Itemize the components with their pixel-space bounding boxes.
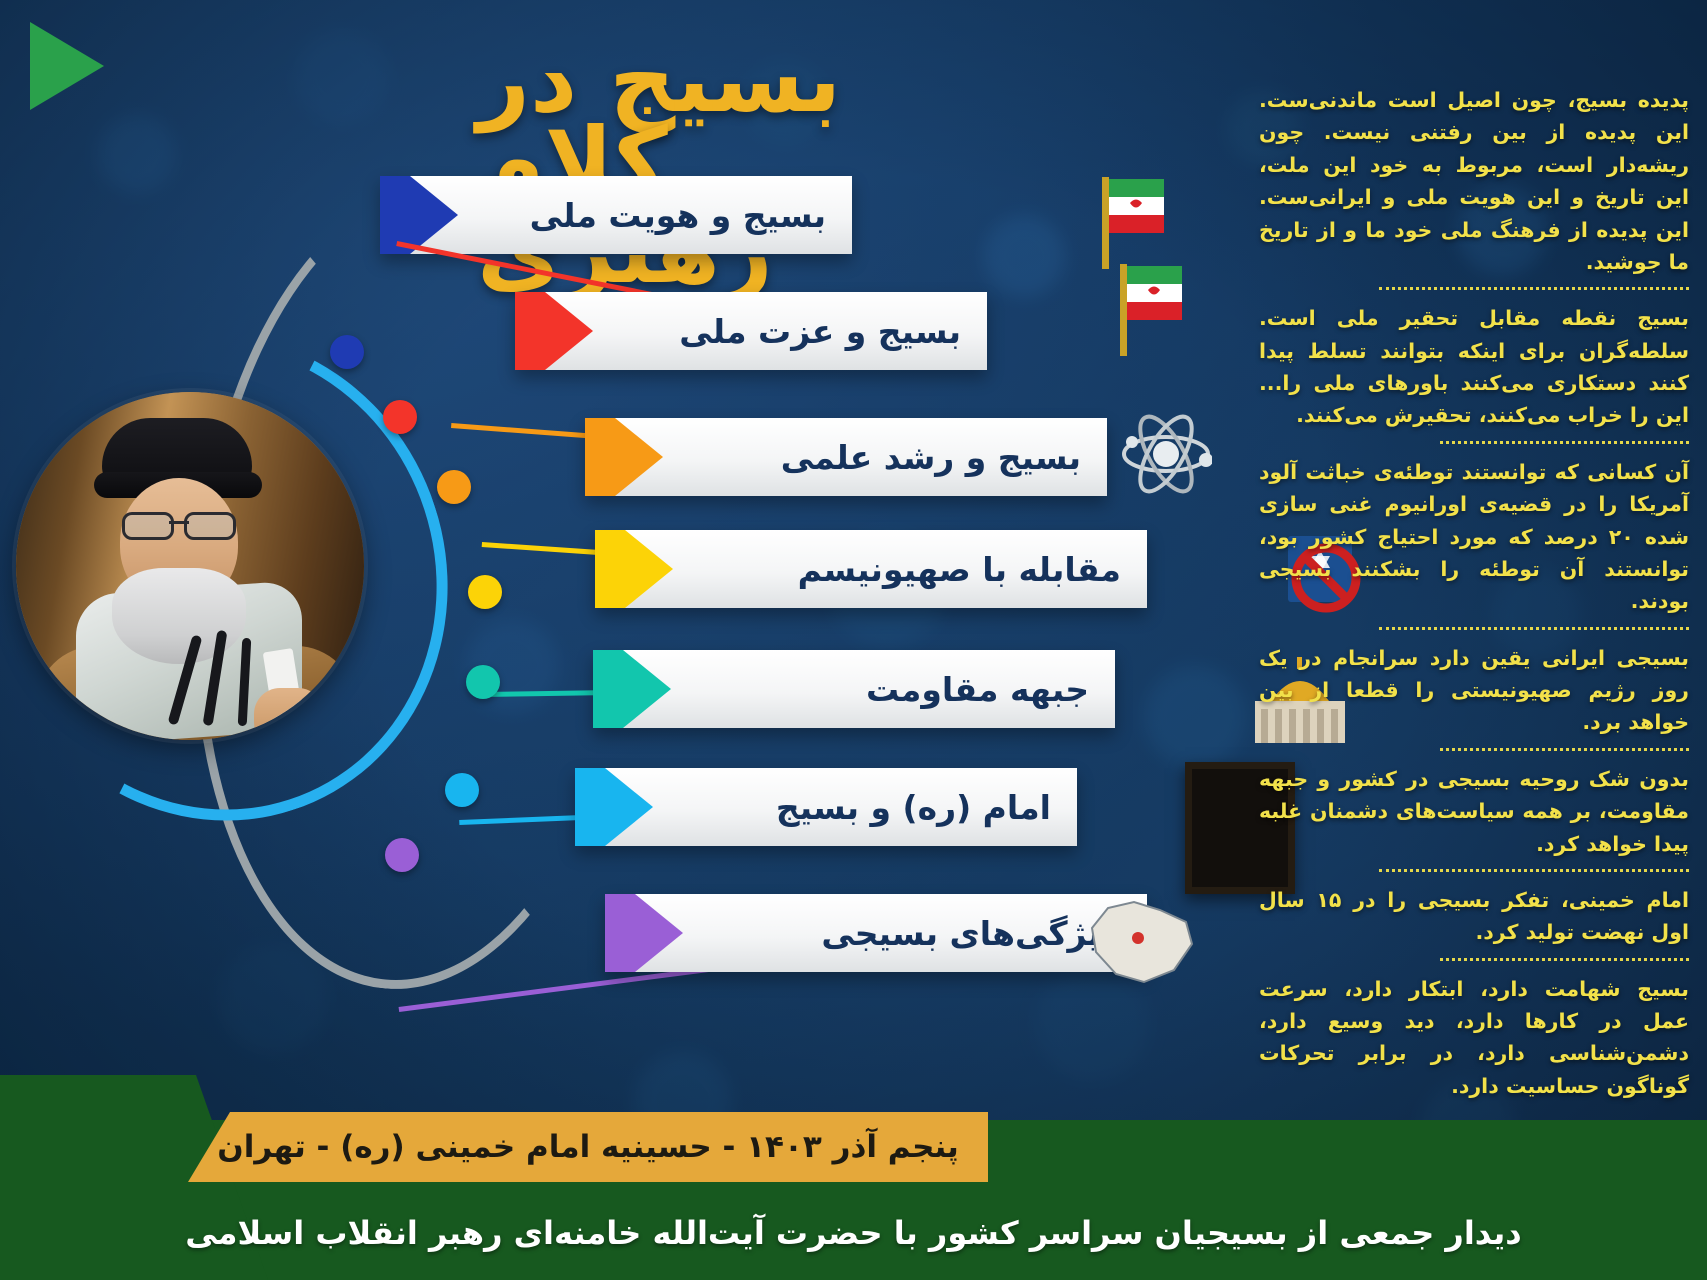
- timeline-dot: [437, 470, 471, 504]
- topic-row[interactable]: بسیج و هویت ملی: [380, 176, 852, 254]
- topic-ribbon-2[interactable]: بسیج و عزت ملی: [515, 292, 987, 370]
- quote-separator: [1379, 627, 1689, 630]
- timeline-dot: [383, 400, 417, 434]
- quote-paragraph: بسیجی ایرانی یقین دارد سرانجام در یک روز…: [1259, 642, 1689, 739]
- ribbon-arrow-tip: [585, 418, 663, 496]
- quote-paragraph: بسیج نقطه مقابل تحقیر ملی است. سلطه‌گران…: [1259, 302, 1689, 432]
- timeline-dot: [385, 838, 419, 872]
- topic-label: جبهه مقاومت: [866, 670, 1089, 709]
- timeline-dot: [330, 335, 364, 369]
- ribbon-arrow-tip: [515, 292, 593, 370]
- quote-separator: [1440, 748, 1689, 751]
- quote-paragraph: بسیج شهامت دارد، ابتکار دارد، سرعت عمل د…: [1259, 973, 1689, 1103]
- quote-separator: [1379, 287, 1689, 290]
- quote-separator: [1379, 869, 1689, 872]
- topic-row[interactable]: جبهه مقاومت: [593, 650, 1115, 728]
- caption-bar: دیدار جمعی از بسیجیان سراسر کشور با حضرت…: [0, 1186, 1707, 1280]
- quote-paragraph: پدیده بسیج، چون اصیل است ماندنی‌ست. این …: [1259, 84, 1689, 278]
- ribbon-arrow-tip: [595, 530, 673, 608]
- date-location-text: پنجم آذر ۱۴۰۳ - حسینیه امام خمینی (ره) -…: [217, 1129, 958, 1165]
- topic-label: ویژگی‌های بسیجی: [821, 914, 1121, 953]
- iran-flag-icon: [1100, 175, 1178, 271]
- quote-separator: [1440, 958, 1689, 961]
- topic-label: بسیج و رشد علمی: [781, 438, 1081, 477]
- topic-label: امام (ره) و بسیج: [776, 788, 1051, 827]
- ribbon-arrow-tip: [593, 650, 671, 728]
- topic-row[interactable]: بسیج و عزت ملی: [515, 292, 987, 370]
- quote-paragraph: آن کسانی که توانستند توطئه‌ی خباثت آلود …: [1259, 456, 1689, 618]
- quote-paragraph: امام خمینی، تفکر بسیجی را در ۱۵ سال اول …: [1259, 884, 1689, 949]
- topic-ribbon-1[interactable]: بسیج و هویت ملی: [380, 176, 852, 254]
- quote-paragraph: بدون شک روحیه بسیجی در کشور و جبهه مقاوم…: [1259, 763, 1689, 860]
- topic-row[interactable]: بسیج و رشد علمی: [585, 418, 1107, 496]
- quotes-column: پدیده بسیج، چون اصیل است ماندنی‌ست. این …: [1259, 84, 1689, 1108]
- timeline-dot: [468, 575, 502, 609]
- topic-ribbon-5[interactable]: جبهه مقاومت: [593, 650, 1115, 728]
- topic-ribbon-3[interactable]: بسیج و رشد علمی: [585, 418, 1107, 496]
- topic-row[interactable]: امام (ره) و بسیج: [575, 768, 1077, 846]
- topic-label: مقابله با صهیونیسم: [798, 550, 1121, 589]
- caption-text: دیدار جمعی از بسیجیان سراسر کشور با حضرت…: [185, 1214, 1521, 1252]
- topic-label: بسیج و عزت ملی: [679, 312, 961, 351]
- topic-ribbon-7[interactable]: ویژگی‌های بسیجی: [605, 894, 1147, 972]
- topic-row[interactable]: ویژگی‌های بسیجی: [605, 894, 1147, 972]
- topic-row[interactable]: مقابله با صهیونیسم: [595, 530, 1147, 608]
- topic-ribbon-4[interactable]: مقابله با صهیونیسم: [595, 530, 1147, 608]
- topic-label: بسیج و هویت ملی: [530, 196, 826, 235]
- iran-map-icon: [1082, 888, 1200, 992]
- date-location-bar: پنجم آذر ۱۴۰۳ - حسینیه امام خمینی (ره) -…: [188, 1112, 988, 1182]
- quote-separator: [1440, 441, 1689, 444]
- iran-flag-icon: [1118, 262, 1196, 358]
- ribbon-arrow-tip: [575, 768, 653, 846]
- ribbon-arrow-tip: [605, 894, 683, 972]
- atom-icon: [1120, 408, 1212, 500]
- timeline-dot: [466, 665, 500, 699]
- infographic-poster: بسیج در کلام رهبری بسیج و هویت ملیبسیج و…: [0, 0, 1707, 1280]
- timeline-dot: [445, 773, 479, 807]
- topic-ribbon-6[interactable]: امام (ره) و بسیج: [575, 768, 1077, 846]
- ribbon-arrow-tip: [380, 176, 458, 254]
